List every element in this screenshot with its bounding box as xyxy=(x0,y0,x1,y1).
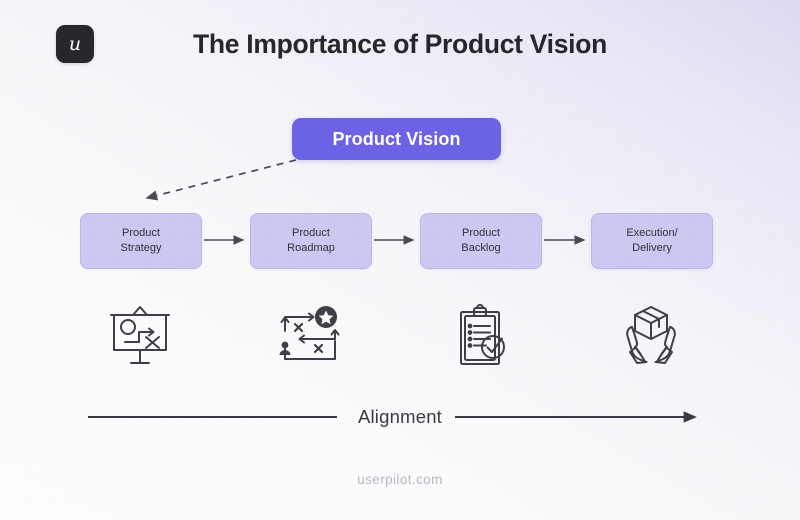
flow-step-label-line2: Backlog xyxy=(461,241,500,256)
icon-cell-strategy xyxy=(80,296,200,376)
footer-watermark: userpilot.com xyxy=(0,472,800,487)
flow-step-label-line1: Product xyxy=(122,226,160,241)
vision-to-strategy-dashed-arrow xyxy=(147,160,296,198)
icon-cell-backlog xyxy=(420,296,540,376)
flow-step-product-roadmap[interactable]: Product Roadmap xyxy=(250,213,372,269)
flow-step-label-line2: Delivery xyxy=(632,241,672,256)
icon-cell-roadmap xyxy=(250,296,370,376)
product-vision-badge: Product Vision xyxy=(292,118,501,160)
flow-step-product-strategy[interactable]: Product Strategy xyxy=(80,213,202,269)
icon-cell-delivery xyxy=(591,296,711,376)
flow-step-label-line1: Execution/ xyxy=(626,226,677,241)
roadmap-flow-icon xyxy=(273,301,347,371)
alignment-label: Alignment xyxy=(0,406,800,428)
flow-step-label-line1: Product xyxy=(292,226,330,241)
hands-package-icon xyxy=(612,301,690,371)
flow-step-label-line2: Strategy xyxy=(121,241,162,256)
flow-step-label-line2: Roadmap xyxy=(287,241,335,256)
flow-step-execution-delivery[interactable]: Execution/ Delivery xyxy=(591,213,713,269)
flow-step-label-line1: Product xyxy=(462,226,500,241)
page-title: The Importance of Product Vision xyxy=(0,29,800,60)
strategy-board-icon xyxy=(103,301,177,371)
clipboard-checklist-icon xyxy=(443,301,517,371)
infographic-canvas: u The Importance of Product Vision Produ… xyxy=(0,0,800,520)
flow-step-product-backlog[interactable]: Product Backlog xyxy=(420,213,542,269)
